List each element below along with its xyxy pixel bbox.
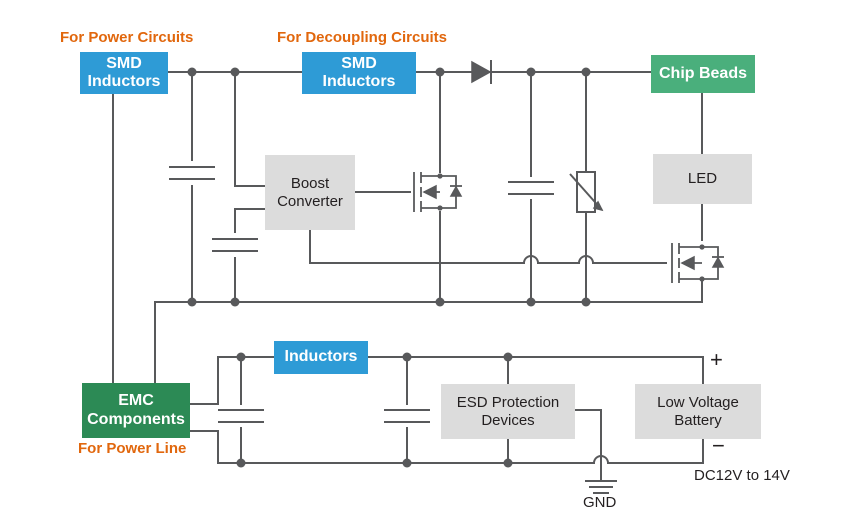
wire-node-235-to-boost	[235, 72, 265, 186]
battery-plus-marker: +	[710, 347, 723, 373]
block-label-line2: Devices	[457, 412, 560, 429]
node-dot	[504, 459, 513, 468]
block-label-line1: EMC	[87, 392, 185, 410]
block-label-line1: ESD Protection	[457, 394, 560, 411]
mosfet-q2	[672, 243, 724, 283]
block-label-line2: Components	[87, 411, 185, 429]
block-chip-beads[interactable]: Chip Beads	[651, 55, 755, 93]
block-label-line1: Low Voltage	[657, 394, 739, 411]
block-esd-protection-devices[interactable]: ESD Protection Devices	[441, 384, 575, 439]
wire-esd-to-ground	[575, 410, 601, 463]
capacitor-c1	[170, 167, 214, 179]
block-label-line2: Battery	[657, 412, 739, 429]
battery-minus-marker: −	[712, 433, 725, 459]
annotation-for-power-circuits: For Power Circuits	[60, 29, 193, 46]
block-label-line2: Converter	[277, 193, 343, 210]
block-label-line1: Inductors	[285, 348, 358, 366]
battery-rating-label: DC12V to 14V	[694, 467, 790, 484]
capacitor-c5	[385, 410, 429, 422]
node-dot	[231, 68, 240, 77]
varistor-v1	[570, 172, 602, 212]
block-label-line1: Boost	[277, 175, 343, 192]
node-dot	[436, 298, 445, 307]
node-dot	[504, 353, 513, 362]
capacitor-c3	[509, 182, 553, 194]
node-dot	[527, 298, 536, 307]
node-dot	[188, 298, 197, 307]
node-dot	[403, 459, 412, 468]
node-dot	[188, 68, 197, 77]
node-dot	[231, 298, 240, 307]
ground-symbol	[586, 463, 616, 493]
block-smd-inductors-left[interactable]: SMD Inductors	[80, 52, 168, 94]
block-boost-converter[interactable]: Boost Converter	[265, 155, 355, 230]
node-dot	[436, 68, 445, 77]
annotation-for-power-line: For Power Line	[78, 440, 186, 457]
wire-q1-to-q2-gate-rail	[440, 256, 666, 263]
node-dot	[582, 298, 591, 307]
capacitor-c2	[213, 239, 257, 251]
wire-bottom-return-rail	[218, 456, 703, 463]
block-smd-inductors-mid[interactable]: SMD Inductors	[302, 52, 416, 94]
block-led[interactable]: LED	[653, 154, 752, 204]
node-dot	[237, 353, 246, 362]
block-label-line2: Inductors	[323, 73, 396, 91]
wire-emc-out-bottom	[190, 431, 218, 463]
wire-boost-bottom-jog	[310, 230, 440, 263]
block-low-voltage-battery[interactable]: Low Voltage Battery	[635, 384, 761, 439]
gnd-label: GND	[583, 494, 616, 511]
mosfet-q1	[414, 172, 462, 212]
block-label-line1: Chip Beads	[659, 65, 747, 83]
diode-d1	[472, 61, 491, 83]
block-label-line1: LED	[688, 170, 717, 187]
block-emc-components[interactable]: EMC Components	[82, 383, 190, 438]
block-label-line1: SMD	[88, 55, 161, 73]
circuit-diagram: For Power Circuits For Decoupling Circui…	[0, 0, 848, 518]
capacitor-c4	[219, 410, 263, 422]
block-label-line2: Inductors	[88, 73, 161, 91]
wire-emc-out-top	[190, 357, 218, 404]
block-inductors[interactable]: Inductors	[274, 341, 368, 374]
block-label-line1: SMD	[323, 55, 396, 73]
node-dot	[403, 353, 412, 362]
node-dot	[582, 68, 591, 77]
wire-boost-in-lower	[235, 209, 265, 232]
node-dot	[237, 459, 246, 468]
annotation-for-decoupling-circuits: For Decoupling Circuits	[277, 29, 447, 46]
node-dot	[527, 68, 536, 77]
